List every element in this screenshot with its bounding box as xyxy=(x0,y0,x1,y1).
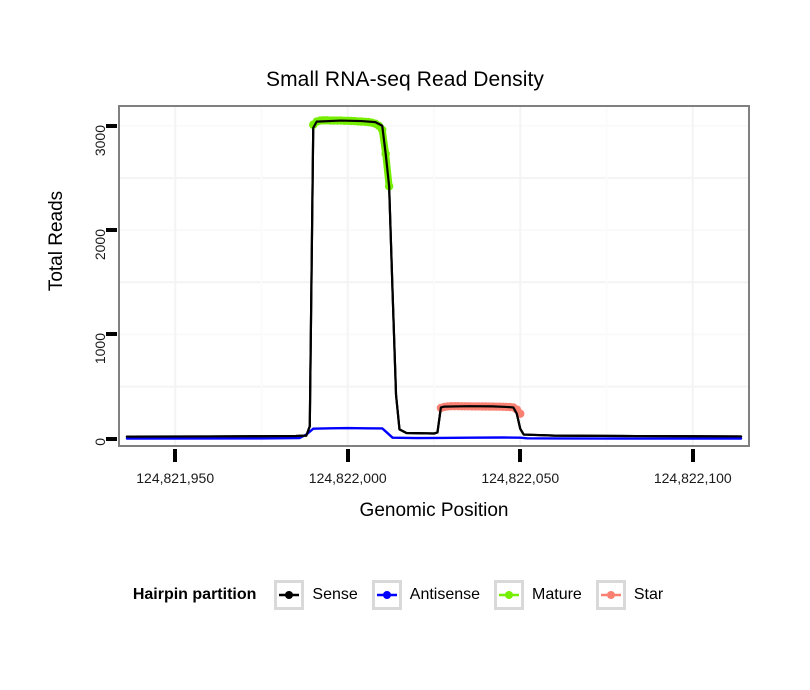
legend-label: Antisense xyxy=(410,586,480,604)
legend-symbol-icon xyxy=(376,584,398,606)
series-group-mature xyxy=(309,116,393,190)
legend-label: Star xyxy=(634,586,663,604)
x-tick-mark xyxy=(518,449,522,462)
chart-legend: Hairpin partition SenseAntisenseMatureSt… xyxy=(0,580,810,610)
legend-symbol-icon xyxy=(600,584,622,606)
series-line-mature xyxy=(313,120,389,186)
x-tick-mark xyxy=(173,449,177,462)
legend-symbol-icon xyxy=(278,584,300,606)
figure-canvas: Small RNA-seq Read Density Total Reads 0… xyxy=(0,0,810,690)
x-tick-mark xyxy=(346,449,350,462)
legend-label: Mature xyxy=(532,586,582,604)
x-axis-title: Genomic Position xyxy=(118,500,750,522)
x-tick-label: 124,822,100 xyxy=(623,470,763,486)
legend-key-sense xyxy=(274,580,304,610)
y-tick-label: 0 xyxy=(92,438,108,498)
legend-key-antisense xyxy=(372,580,402,610)
legend-label: Sense xyxy=(312,586,357,604)
plot-area xyxy=(120,107,748,445)
legend-symbol-icon xyxy=(498,584,520,606)
legend-entry-antisense[interactable]: Antisense xyxy=(372,580,480,610)
y-axis-title: Total Reads xyxy=(46,141,68,341)
legend-key-star xyxy=(596,580,626,610)
y-tick-label: 1000 xyxy=(92,333,108,393)
x-tick-label: 124,822,050 xyxy=(450,470,590,486)
legend-entry-sense[interactable]: Sense xyxy=(274,580,357,610)
x-tick-mark xyxy=(691,449,695,462)
x-tick-label: 124,821,950 xyxy=(105,470,245,486)
legend-entry-mature[interactable]: Mature xyxy=(494,580,582,610)
legend-title: Hairpin partition xyxy=(133,586,257,604)
chart-title: Small RNA-seq Read Density xyxy=(0,68,810,92)
legend-key-mature xyxy=(494,580,524,610)
y-tick-label: 3000 xyxy=(92,125,108,185)
x-tick-label: 124,822,000 xyxy=(278,470,418,486)
plot-panel xyxy=(118,105,750,447)
series-group-star xyxy=(437,402,525,418)
y-tick-label: 2000 xyxy=(92,229,108,289)
legend-entry-star[interactable]: Star xyxy=(596,580,663,610)
